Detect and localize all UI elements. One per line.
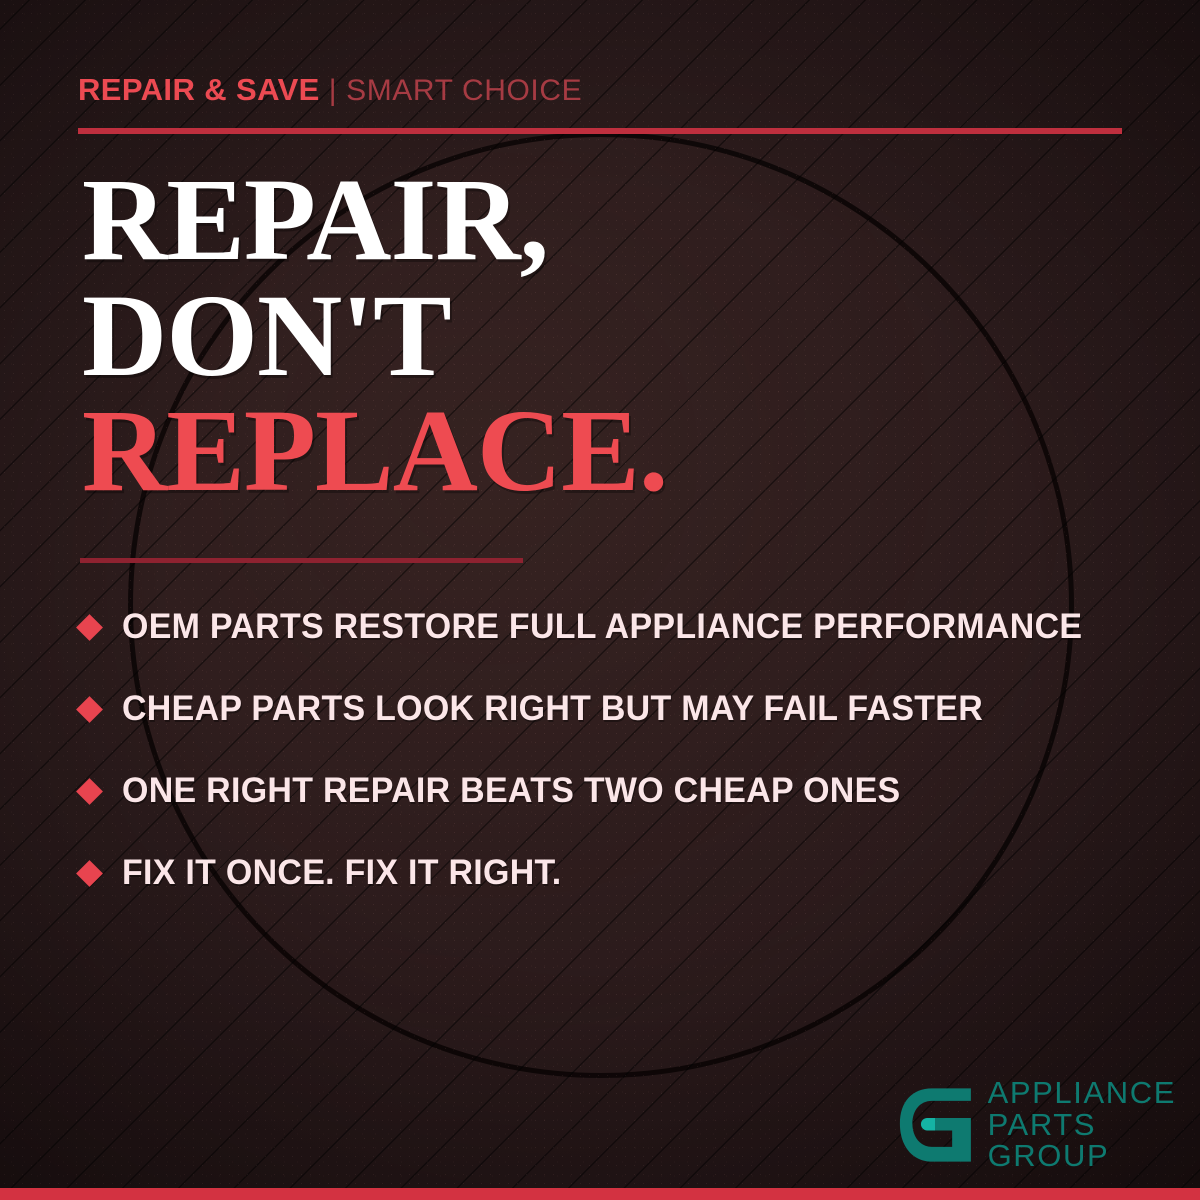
top-divider-rule	[78, 128, 1122, 134]
eyebrow-strong-text: REPAIR & SAVE	[78, 72, 320, 107]
benefit-list: OEM PARTS RESTORE FULL APPLIANCE PERFORM…	[80, 586, 1150, 914]
bottom-accent-bar	[0, 1188, 1200, 1200]
list-item: OEM PARTS RESTORE FULL APPLIANCE PERFORM…	[80, 586, 1150, 668]
appliance-parts-group-g-mark-icon	[896, 1085, 974, 1165]
diamond-bullet-icon	[76, 778, 103, 805]
diamond-bullet-icon	[76, 860, 103, 887]
headline-line-1: REPAIR,	[82, 154, 548, 285]
brand-logo-line-1: APPLIANCE	[988, 1077, 1176, 1109]
poster-canvas: REPAIR & SAVE| SMART CHOICE REPAIR, DON'…	[0, 0, 1200, 1200]
brand-logo-line-3: GROUP	[988, 1140, 1176, 1172]
list-item: FIX IT ONCE. FIX IT RIGHT.	[80, 832, 1150, 914]
list-item-label: OEM PARTS RESTORE FULL APPLIANCE PERFORM…	[122, 607, 1082, 647]
list-item-label: ONE RIGHT REPAIR BEATS TWO CHEAP ONES	[122, 771, 900, 811]
eyebrow-light-text: | SMART CHOICE	[329, 74, 582, 107]
list-item-label: FIX IT ONCE. FIX IT RIGHT.	[122, 853, 562, 893]
brand-logo: APPLIANCE PARTS GROUP	[896, 1077, 1176, 1172]
brand-logo-line-2: PARTS	[988, 1109, 1176, 1141]
list-item-label: CHEAP PARTS LOOK RIGHT BUT MAY FAIL FAST…	[122, 689, 983, 729]
brand-logo-wordmark: APPLIANCE PARTS GROUP	[988, 1077, 1176, 1172]
list-item: ONE RIGHT REPAIR BEATS TWO CHEAP ONES	[80, 750, 1150, 832]
diamond-bullet-icon	[76, 696, 103, 723]
list-item: CHEAP PARTS LOOK RIGHT BUT MAY FAIL FAST…	[80, 668, 1150, 750]
headline-line-2: DON'T	[82, 270, 451, 401]
poster-content: REPAIR & SAVE| SMART CHOICE REPAIR, DON'…	[0, 0, 1200, 1200]
eyebrow: REPAIR & SAVE| SMART CHOICE	[78, 74, 582, 106]
headline: REPAIR, DON'T REPLACE.	[82, 162, 667, 509]
diamond-bullet-icon	[76, 614, 103, 641]
headline-line-3-accent: REPLACE.	[82, 393, 667, 509]
middle-divider-rule	[80, 558, 523, 563]
